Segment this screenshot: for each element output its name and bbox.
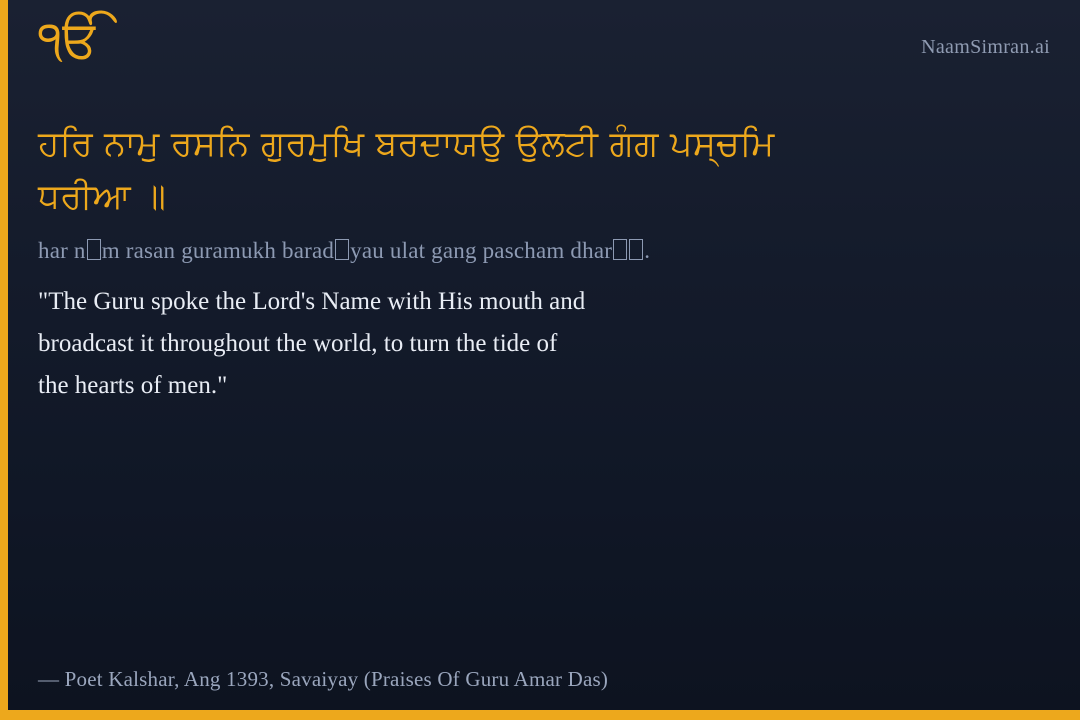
gurmukhi-line-1: ਹਰਿ ਨਾਮੁ ਰਸਨਿ ਗੁਰਮੁਖਿ ਬਰਦਾਯਉ ਉਲਟੀ ਗੰਗ <box>38 124 659 164</box>
brand-watermark: NaamSimran.ai <box>921 36 1050 59</box>
transliteration-part-2: m rasan guramukh barad <box>102 238 334 263</box>
translation-line-3: the hearts of men." <box>38 365 828 407</box>
missing-glyph-box <box>629 239 643 260</box>
transliteration-part-3: yau ulat gang pascham dhar <box>350 238 612 263</box>
missing-glyph-box <box>87 239 101 260</box>
quote-content: ਹਰਿ ਨਾਮੁ ਰਸਨਿ ਗੁਰਮੁਖਿ ਬਰਦਾਯਉ ਉਲਟੀ ਗੰਗ ਪਸ… <box>38 118 1020 407</box>
translation-line-2: broadcast it throughout the world, to tu… <box>38 323 828 365</box>
transliteration-part-1: har n <box>38 238 86 263</box>
scripture-quote-card: ੴ NaamSimran.ai ਹਰਿ ਨਾਮੁ ਰਸਨਿ ਗੁਰਮੁਖਿ ਬਰ… <box>0 0 1080 720</box>
ik-onkar-icon: ੴ <box>38 12 101 69</box>
card-header: ੴ NaamSimran.ai <box>8 0 1080 110</box>
missing-glyph-box <box>613 239 627 260</box>
translation-line-1: "The Guru spoke the Lord's Name with His… <box>38 281 828 323</box>
attribution-citation: — Poet Kalshar, Ang 1393, Savaiyay (Prai… <box>38 667 608 692</box>
missing-glyph-box <box>335 239 349 260</box>
transliteration-part-4: . <box>644 238 650 263</box>
gurmukhi-scripture-text: ਹਰਿ ਨਾਮੁ ਰਸਨਿ ਗੁਰਮੁਖਿ ਬਰਦਾਯਉ ਉਲਟੀ ਗੰਗ ਪਸ… <box>38 118 798 223</box>
english-translation-text: "The Guru spoke the Lord's Name with His… <box>38 281 828 407</box>
transliteration-text: har nm rasan guramukh baradyau ulat gang… <box>38 235 1020 267</box>
